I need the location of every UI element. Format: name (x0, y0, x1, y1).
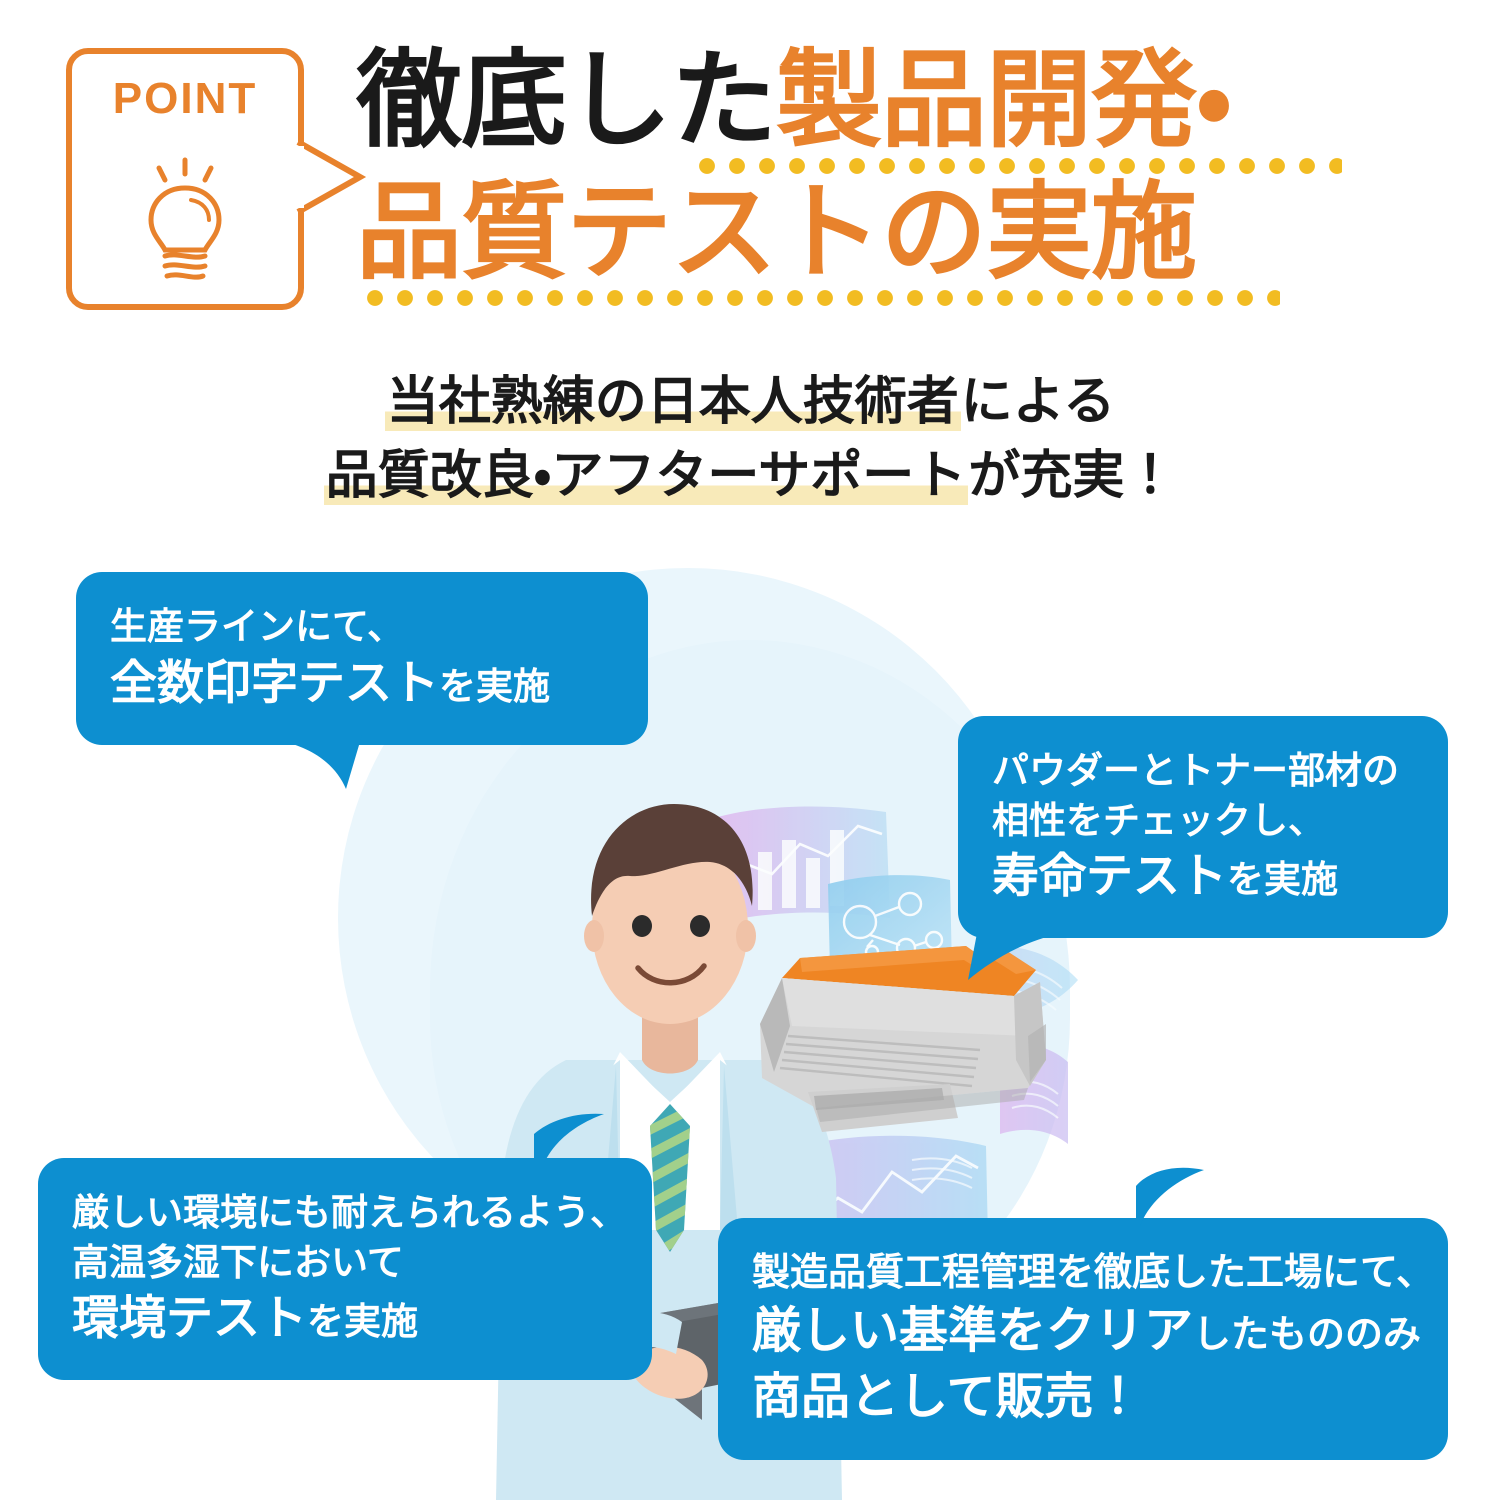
bubble4-text-2: 厳しい基準をクリア (752, 1304, 1193, 1358)
page-title: 徹底した製品開発・ 品質テストの実施 (356, 48, 1366, 306)
bubble3-text-2: 高温多湿下において (72, 1242, 404, 1283)
bubble2-line-3: 寿命テストを実施 (992, 845, 1414, 908)
subtitle-line1-tail: による (961, 373, 1115, 431)
headline-dotted-underline-2 (360, 290, 1280, 306)
lightbulb-icon (129, 152, 241, 292)
bubble3-line-1: 厳しい環境にも耐えられるよう、 (72, 1188, 618, 1238)
bubble4-line-3: 商品として販売！ (752, 1365, 1414, 1431)
left-eye (632, 915, 652, 937)
bubble2-tail-icon (968, 928, 1064, 986)
bubble4-text-1: 製造品質工程管理を徹底した工場にて、 (752, 1252, 1434, 1294)
bubble3-text-3: 環境テスト (72, 1291, 307, 1344)
bubble2-line-2: 相性をチェックし、 (992, 796, 1414, 846)
bubble2-text-3: 寿命テスト (992, 849, 1227, 902)
bubble1-text-2: 全数印字テスト (110, 656, 439, 709)
subtitle-line1-highlight: 当社熟練の日本人技術者 (385, 373, 961, 431)
bubble3-line-3: 環境テストを実施 (72, 1287, 618, 1350)
headline-line1-black: 徹底した (356, 42, 776, 160)
bubble4-line-1: 製造品質工程管理を徹底した工場にて、 (752, 1248, 1414, 1299)
bubble1-text-1: 生産ラインにて、 (110, 606, 404, 647)
bubble2-line-1: パウダーとトナー部材の (992, 746, 1414, 796)
headline-line-1: 徹底した製品開発・ (356, 48, 1366, 174)
right-eye (690, 915, 710, 937)
bubble3-text-4: を実施 (307, 1301, 418, 1342)
bubble3-line-2: 高温多湿下において (72, 1238, 618, 1288)
bubble2-text-2: 相性をチェックし、 (992, 800, 1325, 841)
subtitle-line-2: 品質改良・アフターサポートが充実！ (0, 440, 1500, 514)
bubble4-line-2: 厳しい基準をクリアしたもののみ (752, 1299, 1414, 1365)
bubble4-tail-icon (1128, 1166, 1224, 1228)
point-badge: POINT (66, 48, 304, 310)
headline-line1-orange: 製品開発・ (776, 42, 1231, 160)
bubble1-tail-icon (276, 735, 366, 791)
bubble-factory-standard: 製造品質工程管理を徹底した工場にて、 厳しい基準をクリアしたもののみ 商品として… (718, 1218, 1448, 1460)
headline-line2-orange: 品質テストの実施 (356, 174, 1196, 292)
bubble4-text-4: 商品として販売！ (752, 1370, 1143, 1424)
subtitle: 当社熟練の日本人技術者による 品質改良・アフターサポートが充実！ (0, 366, 1500, 514)
bubble-life-test: パウダーとトナー部材の 相性をチェックし、 寿命テストを実施 (958, 716, 1448, 938)
bubble-environment-test: 厳しい環境にも耐えられるよう、 高温多湿下において 環境テストを実施 (38, 1158, 652, 1380)
bubble1-line-2: 全数印字テストを実施 (110, 652, 614, 715)
point-label: POINT (66, 74, 304, 124)
bubble3-tail-icon (532, 1112, 628, 1170)
bubble2-text-1: パウダーとトナー部材の (992, 750, 1399, 791)
bubble1-line-1: 生産ラインにて、 (110, 602, 614, 652)
headline-dotted-underline-1 (692, 158, 1342, 174)
subtitle-line-1: 当社熟練の日本人技術者による (0, 366, 1500, 440)
bubble-print-test: 生産ラインにて、 全数印字テストを実施 (76, 572, 648, 745)
subtitle-line2-highlight: 品質改良・アフターサポート (324, 447, 969, 505)
bubble1-text-3: を実施 (439, 666, 550, 707)
headline-line-2: 品質テストの実施 (356, 180, 1366, 306)
bubble3-text-1: 厳しい環境にも耐えられるよう、 (72, 1192, 627, 1233)
bubble2-text-4: を実施 (1227, 859, 1338, 900)
subtitle-line2-tail: が充実！ (968, 447, 1176, 505)
bubble4-text-3: したもののみ (1193, 1314, 1421, 1356)
